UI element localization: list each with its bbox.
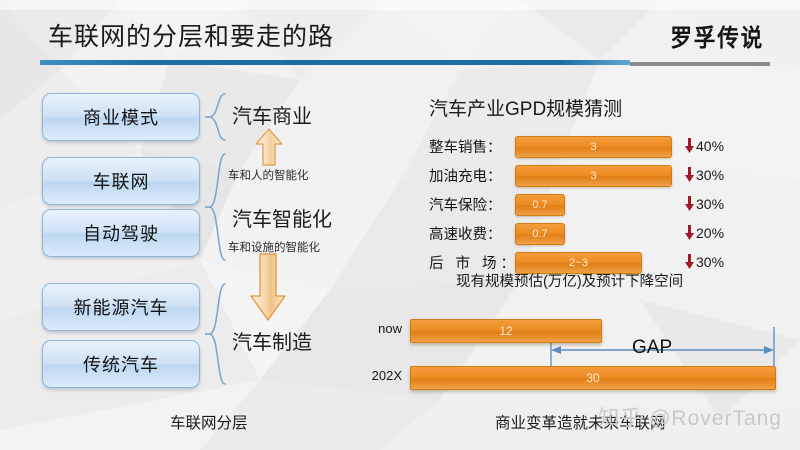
gpd-row-decline-value: 30%	[696, 167, 724, 183]
gpd-row-bar: 3	[515, 165, 672, 187]
caption-left: 车联网分层	[170, 411, 248, 433]
gpd-row-value: 3	[590, 141, 596, 153]
gpd-row-label: 高速收费：	[429, 223, 515, 244]
gap-bar-now: 12	[410, 319, 602, 343]
gpd-row: 汽车保险： 0.7 30%	[429, 191, 724, 217]
watermark: 知乎 @RoverTang	[598, 402, 782, 432]
gpd-row-decline: 20%	[684, 225, 724, 242]
gpd-row-value: 2~3	[569, 257, 588, 269]
gpd-row: 高速收费： 0.7 20%	[429, 220, 724, 246]
group-label-intelligence: 汽车智能化	[232, 203, 332, 232]
arrow-down-icon	[248, 253, 288, 321]
brace-group-manufacturing-icon	[205, 282, 231, 386]
gpd-row-value: 3	[590, 170, 596, 182]
layer-box-label: 自动驾驶	[83, 220, 159, 246]
layer-box-iov[interactable]: 车联网	[42, 157, 200, 205]
title-underline	[40, 60, 630, 65]
gpd-row-label: 加油充电：	[429, 165, 515, 186]
slide-canvas: 车联网的分层和要走的路 罗孚传说 商业模式 车联网 自动驾驶 新能源汽车 传统汽…	[0, 0, 800, 450]
gpd-row-track: 0.7	[515, 194, 670, 214]
gpd-row-track: 2~3	[515, 252, 670, 272]
gap-chart: now 12 202X 30 GAP	[360, 305, 790, 395]
down-arrow-icon	[684, 138, 695, 155]
down-arrow-icon	[684, 225, 695, 242]
down-arrow-icon	[684, 254, 695, 271]
gpd-row-track: 3	[515, 165, 670, 185]
brand-logo-text: 罗孚传说	[670, 18, 764, 53]
down-arrow-icon	[684, 167, 695, 184]
layer-box-business-model[interactable]: 商业模式	[42, 93, 200, 141]
layer-box-new-energy-vehicle[interactable]: 新能源汽车	[42, 283, 200, 331]
layer-box-autonomous-driving[interactable]: 自动驾驶	[42, 209, 200, 257]
gpd-row-bar: 3	[515, 136, 672, 158]
gpd-row-decline: 30%	[684, 196, 724, 213]
gpd-row-decline: 30%	[684, 254, 724, 271]
gap-bar-202x: 30	[410, 366, 776, 390]
gpd-row-bar: 0.7	[515, 223, 565, 245]
layer-box-label: 车联网	[93, 168, 150, 194]
gpd-row-list: 整车销售： 3 40% 加油充电： 3	[429, 133, 724, 278]
gap-bar-value: 12	[499, 324, 512, 338]
gpd-row-value: 0.7	[532, 228, 547, 240]
gpd-row-decline: 40%	[684, 138, 724, 155]
layer-box-label: 新能源汽车	[74, 294, 169, 320]
brand-underline	[630, 62, 770, 66]
page-title: 车联网的分层和要走的路	[48, 17, 334, 53]
down-arrow-icon	[684, 196, 695, 213]
gpd-row: 整车销售： 3 40%	[429, 133, 724, 159]
note-human-vehicle-intelligence: 车和人的智能化	[228, 167, 309, 183]
gpd-panel-caption: 现有规模预估(万亿)及预计下降空间	[456, 270, 683, 291]
gpd-row-decline: 30%	[684, 167, 724, 184]
gap-bar-value: 30	[586, 371, 599, 385]
gpd-row: 加油充电： 3 30%	[429, 162, 724, 188]
gpd-row-label: 汽车保险：	[429, 194, 515, 215]
gap-bar-label-202x: 202X	[346, 368, 402, 383]
group-label-manufacturing: 汽车制造	[232, 326, 312, 355]
layer-box-label: 商业模式	[83, 104, 159, 130]
gpd-row-decline-value: 30%	[696, 196, 724, 212]
layer-box-traditional-vehicle[interactable]: 传统汽车	[42, 340, 200, 388]
gpd-row-decline-value: 30%	[696, 254, 724, 270]
group-label-business: 汽车商业	[232, 100, 312, 129]
gap-label: GAP	[628, 337, 676, 359]
gpd-row-decline-value: 20%	[696, 225, 724, 241]
gap-bar-label-now: now	[350, 321, 402, 336]
gpd-row-track: 0.7	[515, 223, 670, 243]
arrow-up-icon	[254, 128, 284, 166]
brace-group-business-icon	[205, 92, 231, 142]
gpd-row-decline-value: 40%	[696, 138, 724, 154]
gpd-row-label: 整车销售：	[429, 136, 515, 157]
gpd-row-value: 0.7	[532, 199, 547, 211]
gpd-panel-title: 汽车产业GPD规模猜测	[429, 94, 622, 121]
gpd-row-bar: 0.7	[515, 194, 565, 216]
gpd-row-track: 3	[515, 136, 670, 156]
layer-box-label: 传统汽车	[83, 351, 159, 377]
